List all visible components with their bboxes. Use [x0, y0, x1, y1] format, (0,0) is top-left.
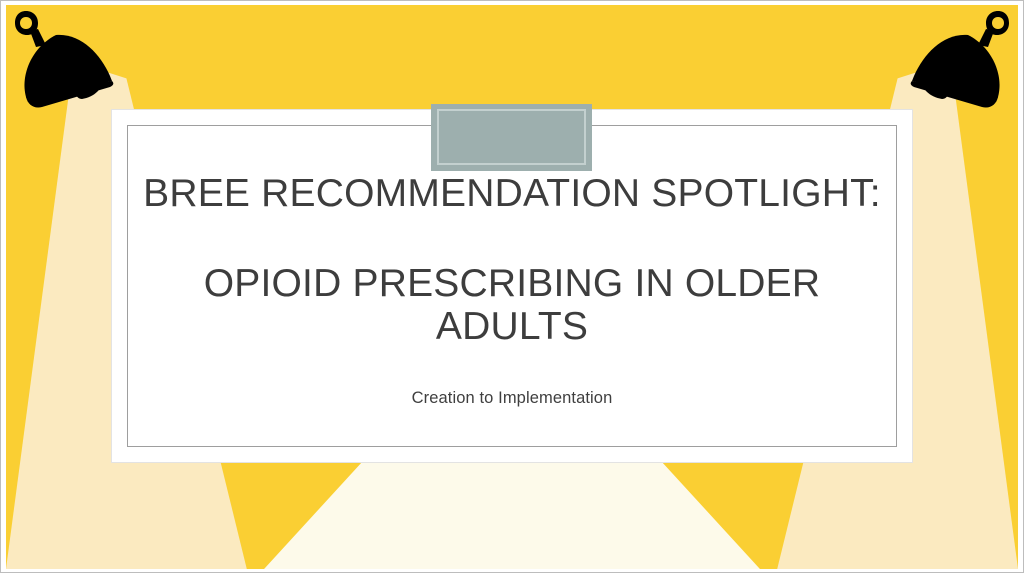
presentation-slide: BREE RECOMMENDATION SPOTLIGHT: OPIOID PR… [0, 0, 1024, 573]
hanging-lamp-left-icon [12, 5, 142, 120]
slide-title-line-2: OPIOID PRESCRIBING IN OLDER ADULTS [112, 262, 912, 349]
hanging-lamp-right-icon [882, 5, 1012, 120]
accent-tab [431, 104, 592, 171]
slide-subtitle: Creation to Implementation [112, 389, 912, 408]
accent-tab-inner-border [437, 109, 586, 165]
title-text-block: BREE RECOMMENDATION SPOTLIGHT: OPIOID PR… [112, 172, 912, 408]
slide-title-line-1: BREE RECOMMENDATION SPOTLIGHT: [112, 172, 912, 216]
